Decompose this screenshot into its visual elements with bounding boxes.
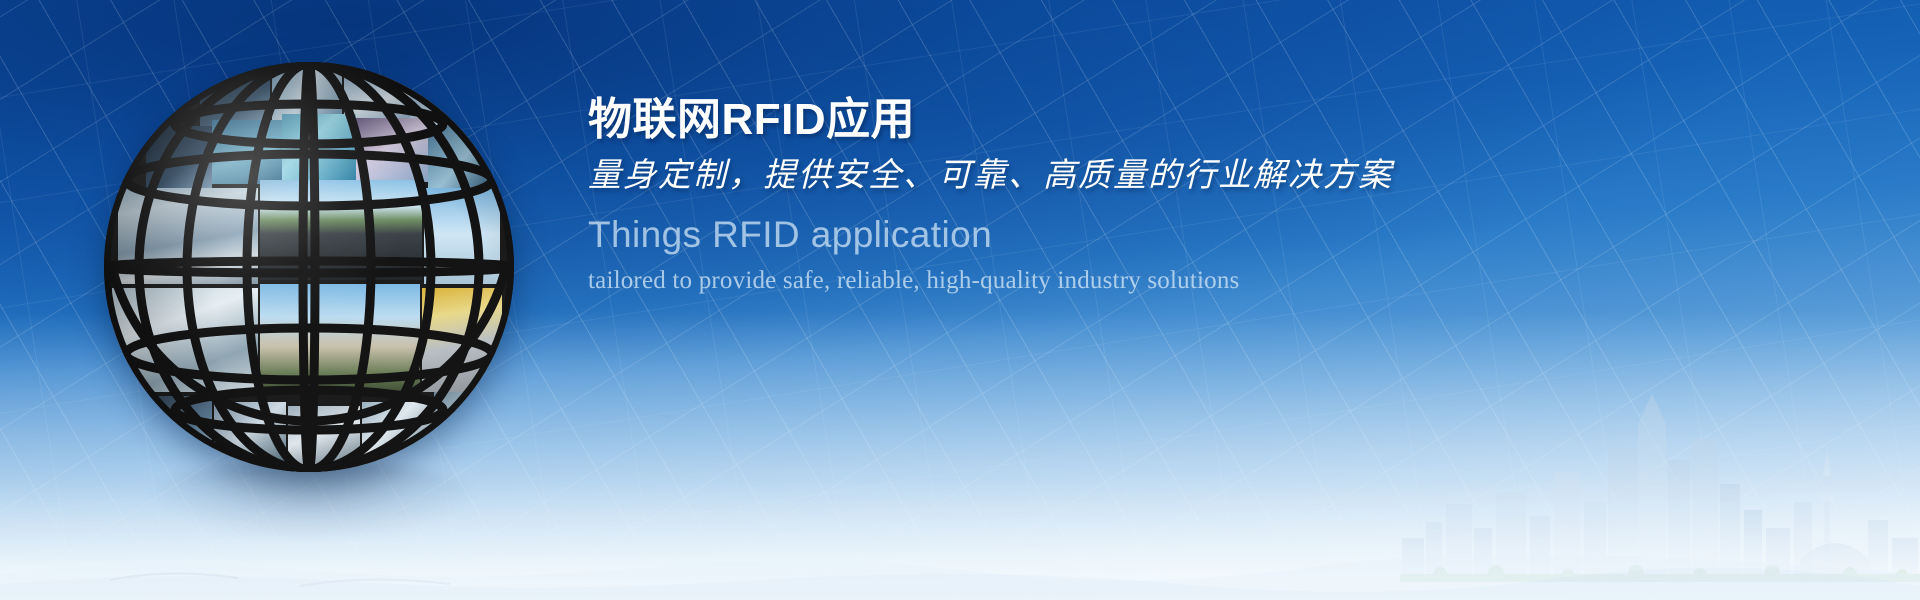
photo-mosaic-globe — [104, 62, 514, 472]
water-shoreline-ripple — [0, 540, 1920, 600]
globe-sphere — [104, 62, 514, 472]
banner-copy-block: 物联网RFID应用 量身定制，提供安全、可靠、高质量的行业解决方案 Things… — [588, 96, 1488, 296]
banner-subline-chinese: 量身定制，提供安全、可靠、高质量的行业解决方案 — [588, 158, 1488, 196]
banner-headline-english: Things RFID application — [588, 215, 1488, 256]
city-skyline-silhouette — [1400, 352, 1920, 582]
banner-subline-english: tailored to provide safe, reliable, high… — [588, 266, 1488, 296]
globe-spherical-shading — [104, 62, 514, 472]
banner-headline-chinese: 物联网RFID应用 — [588, 96, 1488, 144]
iot-rfid-banner: 物联网RFID应用 量身定制，提供安全、可靠、高质量的行业解决方案 Things… — [0, 0, 1920, 600]
